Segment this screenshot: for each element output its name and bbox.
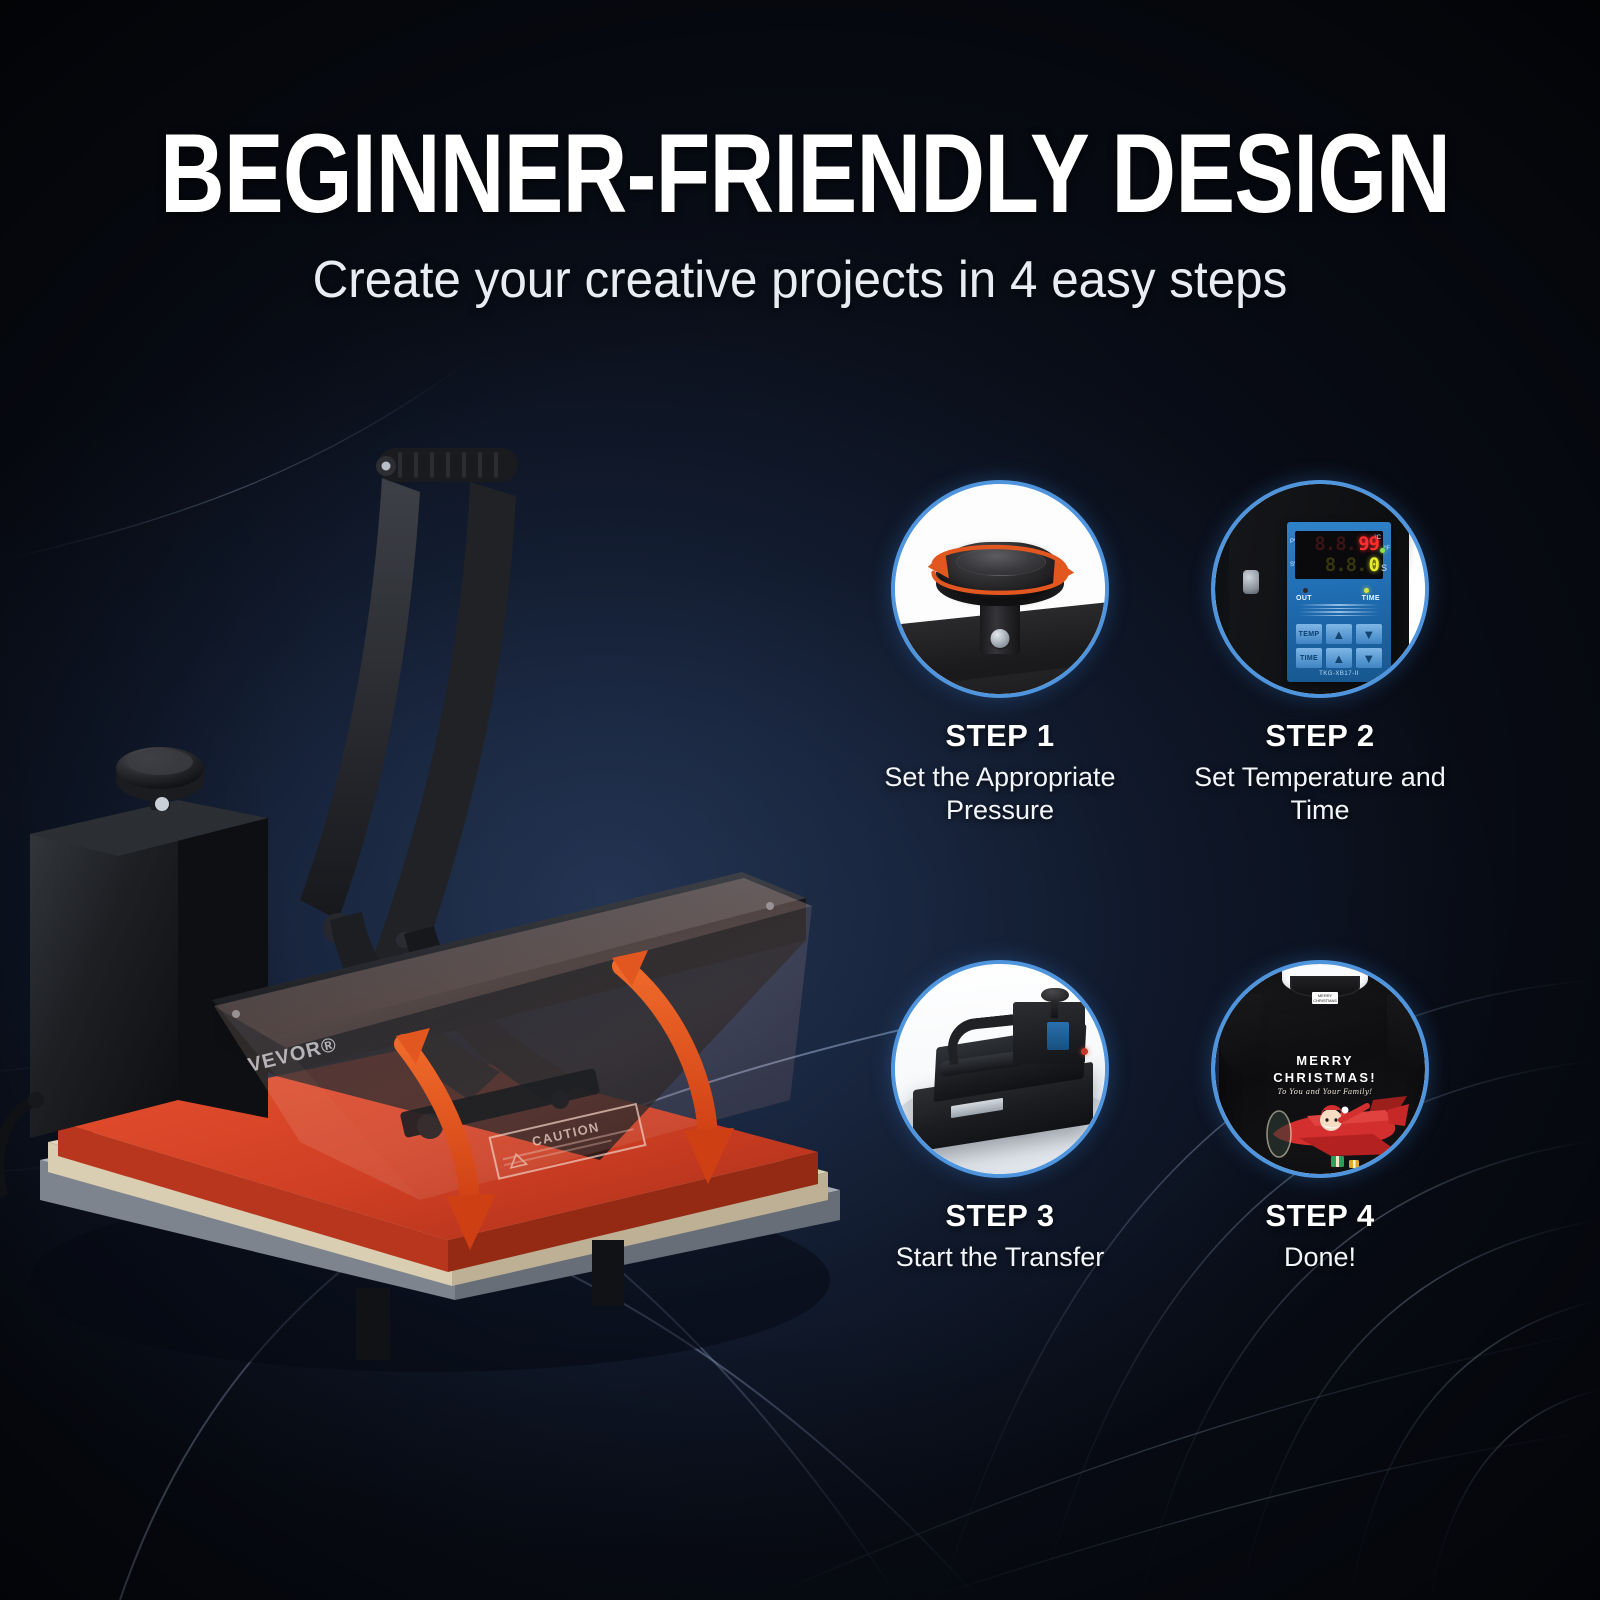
time-button[interactable]: TIME	[1296, 648, 1322, 668]
step-1-image	[891, 480, 1109, 698]
black-tshirt: MERRY CHRISTMAS MERRY CHRISTMAS! To You …	[1219, 966, 1425, 1174]
panel-button-grid[interactable]: TEMP ▲ ▼ TIME ▲ ▼	[1296, 624, 1382, 668]
hinge-bolt	[1243, 570, 1259, 594]
power-indicator	[1081, 1048, 1088, 1055]
step-3-desc: Start the Transfer	[850, 1241, 1150, 1274]
digital-display: 8.8. 99 8.8. 0	[1295, 531, 1383, 579]
press-display	[1047, 1022, 1069, 1050]
unit-fahrenheit: °F	[1384, 546, 1390, 552]
print-line-2: CHRISTMAS!	[1219, 1069, 1425, 1086]
print-line-1: MERRY	[1219, 1052, 1425, 1069]
out-led	[1303, 588, 1308, 593]
neck-tag-line-2: CHRISTMAS	[1312, 998, 1338, 1003]
page-title: BEGINNER-FRIENDLY DESIGN	[160, 118, 1440, 230]
header-block: BEGINNER-FRIENDLY DESIGN Create your cre…	[0, 118, 1600, 310]
temp-prefix-digits: 8.8.	[1314, 535, 1356, 554]
rotation-arrow-icon	[895, 484, 1105, 694]
infographic-canvas: BEGINNER-FRIENDLY DESIGN Create your cre…	[0, 0, 1600, 1600]
time-up-button[interactable]: ▲	[1326, 648, 1352, 668]
temp-up-button[interactable]: ▲	[1326, 624, 1352, 644]
temp-down-button[interactable]: ▼	[1356, 624, 1382, 644]
time-led	[1364, 588, 1369, 593]
pressure-adjust-knob[interactable]	[116, 747, 204, 811]
heat-press-product-image: VEVOR® CAUTION	[0, 400, 880, 1420]
step-4-title: STEP 4	[1170, 1198, 1470, 1234]
santa-airplane-graphic	[1245, 1094, 1415, 1168]
time-value: 0	[1369, 556, 1379, 575]
press-knob	[1041, 988, 1069, 1002]
unit-seconds: S	[1381, 563, 1387, 573]
time-down-button[interactable]: ▼	[1356, 648, 1382, 668]
out-label: OUT	[1296, 595, 1312, 602]
neck-tag: MERRY CHRISTMAS	[1312, 992, 1338, 1004]
step-3-image	[891, 960, 1109, 1178]
steps-grid: STEP 1 Set the Appropriate Pressure PV S…	[850, 480, 1490, 1360]
time-readout-row: 8.8. 0	[1299, 556, 1379, 576]
step-2-image: PV SV 8.8. 99 8.8. 0 °C	[1211, 480, 1429, 698]
time-label: TIME	[1362, 595, 1380, 602]
temperature-readout-row: 8.8. 99	[1299, 535, 1379, 555]
step-4-desc: Done!	[1170, 1241, 1470, 1274]
controller-model: TKG-XB17-II	[1287, 671, 1391, 677]
step-3-title: STEP 3	[850, 1198, 1150, 1234]
step-card-4: MERRY CHRISTMAS MERRY CHRISTMAS! To You …	[1170, 960, 1470, 1274]
base-leg	[592, 1240, 624, 1306]
step-card-3: STEP 3 Start the Transfer	[850, 960, 1150, 1274]
unit-celsius: °C	[1374, 535, 1381, 541]
step-card-1: STEP 1 Set the Appropriate Pressure	[850, 480, 1150, 827]
shirt-print-text: MERRY CHRISTMAS! To You and Your Family!	[1219, 1052, 1425, 1096]
time-prefix-digits: 8.8.	[1325, 556, 1367, 575]
step-2-title: STEP 2	[1170, 718, 1470, 754]
temp-button[interactable]: TEMP	[1296, 624, 1322, 644]
control-panel-icon: PV SV 8.8. 99 8.8. 0 °C	[1287, 522, 1391, 682]
step-4-image: MERRY CHRISTMAS MERRY CHRISTMAS! To You …	[1211, 960, 1429, 1178]
step-card-2: PV SV 8.8. 99 8.8. 0 °C	[1170, 480, 1470, 827]
step-1-title: STEP 1	[850, 718, 1150, 754]
step-1-desc: Set the Appropriate Pressure	[850, 761, 1150, 827]
propeller	[1267, 1111, 1291, 1157]
panel-grille	[1299, 604, 1379, 619]
page-subtitle: Create your creative projects in 4 easy …	[40, 250, 1560, 310]
base-leg	[356, 1288, 390, 1360]
step-2-desc: Set Temperature and Time	[1170, 761, 1470, 827]
